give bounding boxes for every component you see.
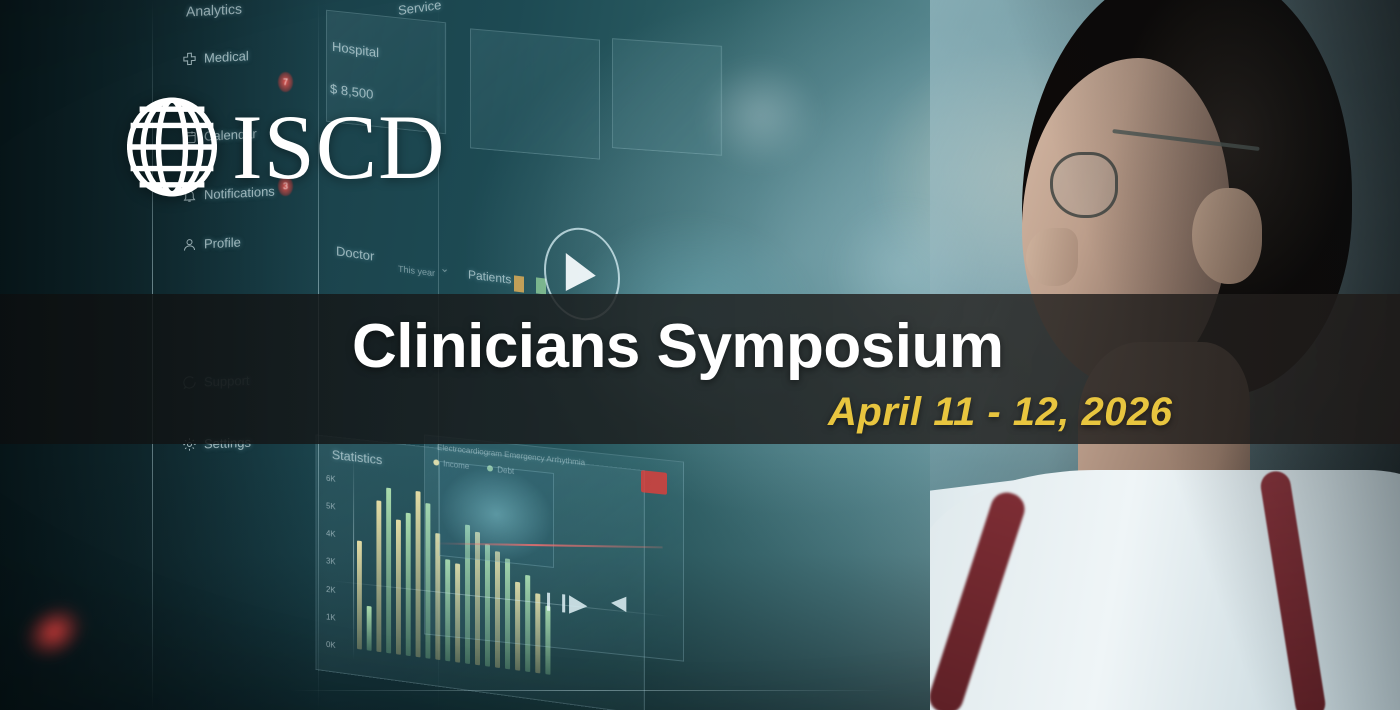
event-dates: April 11 - 12, 2026 — [828, 392, 1173, 432]
iscd-logo[interactable]: ISCD — [118, 92, 446, 202]
globe-icon — [118, 92, 226, 202]
page-title: Clinicians Symposium — [352, 316, 1004, 378]
symposium-banner: Analytics Service Medical Calendar — [0, 0, 1400, 710]
logo-wordmark: ISCD — [232, 101, 446, 193]
